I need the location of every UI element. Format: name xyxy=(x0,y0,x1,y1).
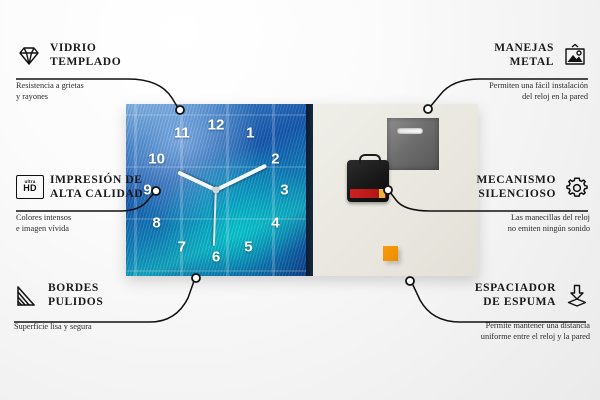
clock-numeral-1: 1 xyxy=(246,126,254,141)
callout-header: MANEJAS METAL xyxy=(388,42,588,69)
metal-hanger-plate xyxy=(387,118,439,170)
clock-hand-minute xyxy=(215,164,267,192)
foam-spacer-square xyxy=(383,246,398,261)
hanger-slot xyxy=(397,128,423,134)
callout-title: IMPRESIÓN DE ALTA CALIDAD xyxy=(50,174,143,201)
callout-description: Permiten una fácil instalación del reloj… xyxy=(388,80,588,102)
callout-description: Colores intensos e imagen vívida xyxy=(16,212,206,234)
callout-header: ultra HD IMPRESIÓN DE ALTA CALIDAD xyxy=(16,174,206,201)
clock-numeral-2: 2 xyxy=(271,152,279,167)
callout-header: BORDES PULIDOS xyxy=(14,282,204,309)
picture-hanger-icon xyxy=(562,43,588,69)
clock-numeral-5: 5 xyxy=(244,239,252,254)
callout-title: ESPACIADOR DE ESPUMA xyxy=(475,282,556,309)
clock-numeral-3: 3 xyxy=(280,183,288,198)
ultra-hd-icon: ultra HD xyxy=(16,175,42,201)
callout-manejas-metal: MANEJAS METAL Permiten una fácil instala… xyxy=(388,42,588,103)
clock-panel-edge xyxy=(306,104,313,276)
callout-header: MECANISMO SILENCIOSO xyxy=(390,174,590,201)
polished-edges-icon xyxy=(14,283,40,309)
ultra-hd-icon-large-text: HD xyxy=(23,184,36,193)
clock-mechanism-box xyxy=(347,160,389,202)
clock-numeral-10: 10 xyxy=(148,152,165,167)
callout-title: MECANISMO SILENCIOSO xyxy=(476,174,556,201)
gear-icon xyxy=(564,175,590,201)
infographic-canvas: 12 1 2 3 4 5 6 7 8 9 10 11 xyxy=(0,0,600,400)
callout-header: ESPACIADOR DE ESPUMA xyxy=(380,282,590,309)
diamond-icon xyxy=(16,43,42,69)
callout-description: Las manecillas del reloj no emiten ningú… xyxy=(390,212,590,234)
callout-mecanismo-silencioso: MECANISMO SILENCIOSO Las manecillas del … xyxy=(390,174,590,235)
callout-title: VIDRIO TEMPLADO xyxy=(50,42,121,69)
callout-description: Resistencia a grietas y rayones xyxy=(16,80,206,102)
foam-spacer-icon xyxy=(564,283,590,309)
clock-numeral-7: 7 xyxy=(178,239,186,254)
callout-header: VIDRIO TEMPLADO xyxy=(16,42,206,69)
callout-bordes-pulidos: BORDES PULIDOS Superficie lisa y segura xyxy=(14,282,204,332)
clock-numeral-11: 11 xyxy=(174,126,190,141)
clock-numeral-12: 12 xyxy=(208,117,225,132)
callout-description: Superficie lisa y segura xyxy=(14,321,204,332)
callout-title: MANEJAS METAL xyxy=(494,42,554,69)
callout-title: BORDES PULIDOS xyxy=(48,282,103,309)
callout-vidrio-templado: VIDRIO TEMPLADO Resistencia a grietas y … xyxy=(16,42,206,103)
clock-numeral-4: 4 xyxy=(271,215,279,230)
clock-center-cap xyxy=(213,187,220,194)
callout-description: Permite mantener una distancia uniforme … xyxy=(380,320,590,342)
callout-impresion-alta-calidad: ultra HD IMPRESIÓN DE ALTA CALIDAD Color… xyxy=(16,174,206,235)
clock-numeral-6: 6 xyxy=(212,250,220,265)
mechanism-hanger-tab xyxy=(359,154,381,164)
mechanism-yellow-chip xyxy=(379,189,385,198)
callout-espaciador-de-espuma: ESPACIADOR DE ESPUMA Permite mantener un… xyxy=(380,282,590,343)
clock-hand-second xyxy=(213,190,217,246)
